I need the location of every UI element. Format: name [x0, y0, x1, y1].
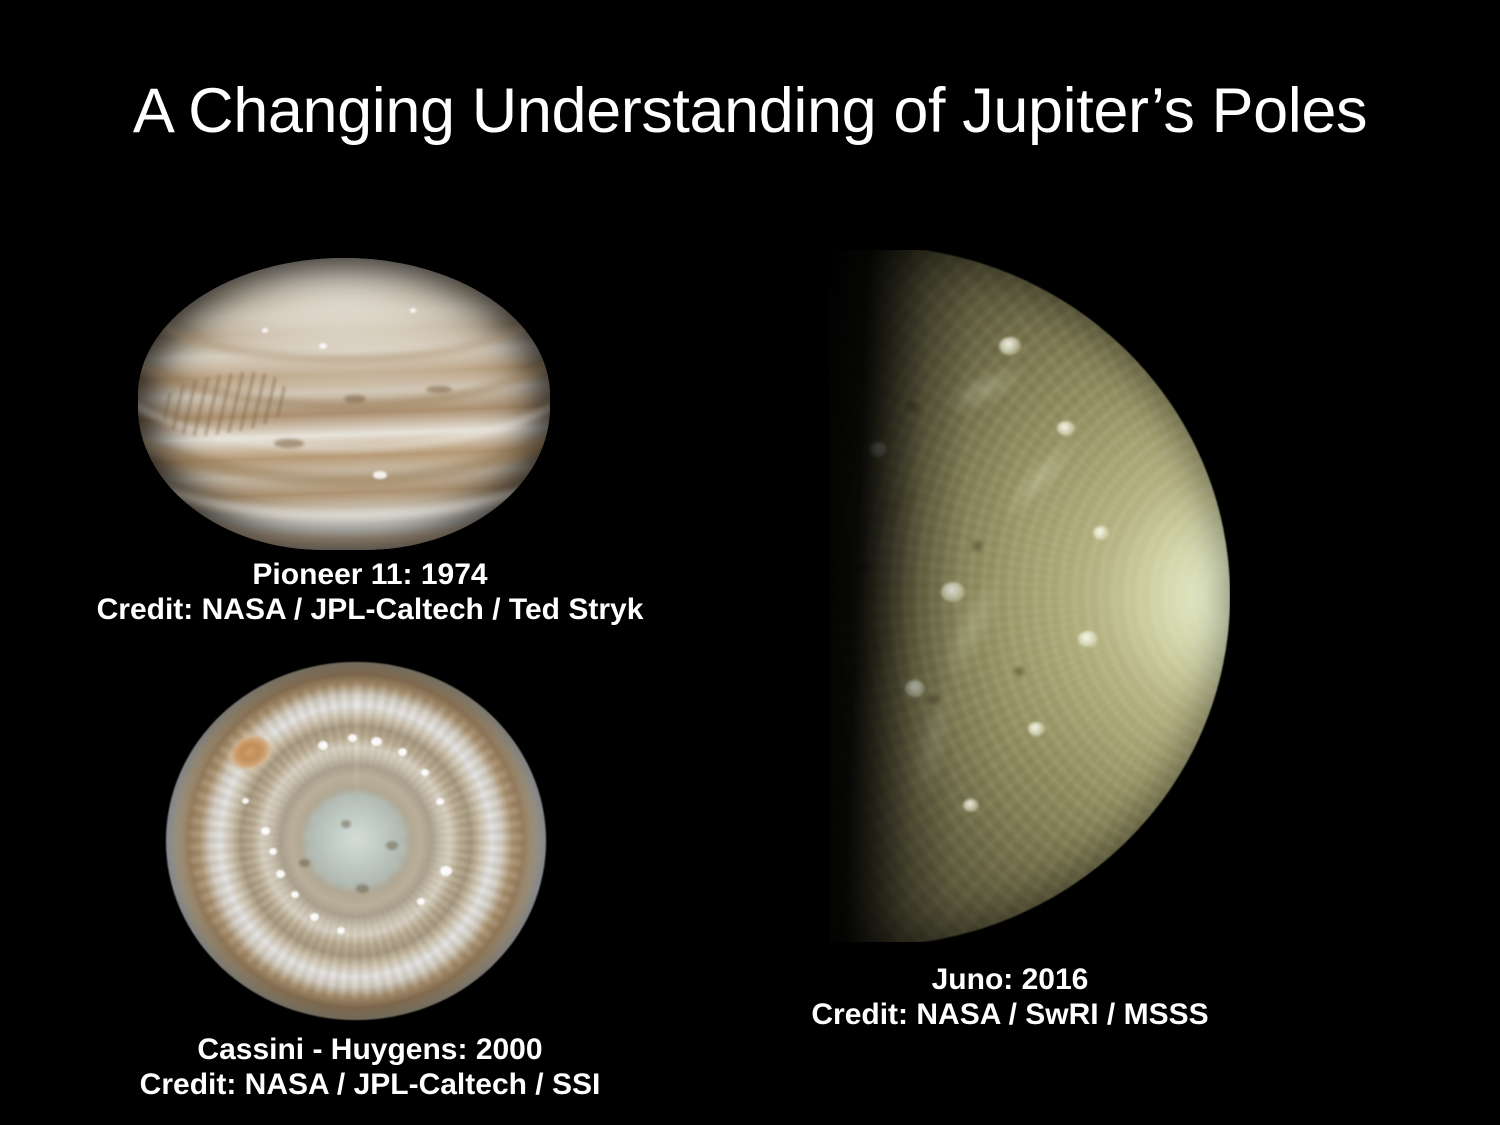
cassini-dark-spot	[341, 820, 351, 828]
juno-white-oval-storm	[999, 337, 1021, 355]
juno-white-oval-storm	[963, 799, 979, 812]
juno-bright-limb-band	[830, 250, 1230, 942]
juno-caption: Juno: 2016 Credit: NASA / SwRI / MSSS	[705, 962, 1315, 1032]
cassini-white-spot	[242, 798, 249, 804]
cassini-white-spot	[398, 748, 407, 756]
pioneer-credit-label: Credit: NASA / JPL-Caltech / Ted Stryk	[30, 592, 710, 627]
cassini-white-spot	[417, 898, 425, 905]
cassini-oval-storm	[226, 731, 275, 774]
juno-dark-oval	[927, 694, 942, 706]
cassini-white-spot	[269, 848, 277, 855]
pioneer-mission-label: Pioneer 11: 1974	[30, 557, 710, 592]
juno-dark-oval	[970, 540, 984, 552]
juno-crescent-clip	[830, 250, 1230, 942]
pioneer-dark-spot	[274, 439, 304, 448]
cassini-white-spot	[371, 737, 382, 746]
cassini-dark-spot	[356, 884, 369, 893]
juno-dark-oval	[855, 561, 873, 575]
cassini-white-spot	[276, 870, 285, 878]
cassini-white-oval	[440, 866, 452, 876]
cassini-caption: Cassini - Huygens: 2000 Credit: NASA / J…	[25, 1032, 715, 1102]
juno-credit-label: Credit: NASA / SwRI / MSSS	[705, 997, 1315, 1032]
cassini-white-spot	[337, 927, 345, 934]
juno-white-oval-storm	[1057, 421, 1075, 436]
cassini-huygens-jupiter-polar-image	[166, 662, 546, 1020]
cassini-planet-disk	[166, 662, 546, 1020]
juno-white-oval-storm	[869, 442, 887, 457]
pioneer-white-spot	[319, 343, 327, 349]
page-title: A Changing Understanding of Jupiter’s Po…	[0, 78, 1500, 144]
juno-white-oval-storm	[905, 680, 925, 697]
cassini-white-spot	[436, 798, 444, 805]
juno-jupiter-polar-crescent-image	[830, 250, 1230, 942]
pioneer-caption: Pioneer 11: 1974 Credit: NASA / JPL-Calt…	[30, 557, 710, 627]
cassini-white-spot	[348, 734, 357, 742]
cassini-dark-spot	[299, 859, 310, 867]
cassini-white-spot	[421, 769, 429, 776]
juno-white-oval-storm	[1028, 722, 1045, 736]
juno-planet-globe	[830, 250, 1230, 942]
cassini-white-spot	[310, 913, 319, 921]
juno-white-oval-storm	[1093, 526, 1109, 540]
cassini-credit-label: Credit: NASA / JPL-Caltech / SSI	[25, 1067, 715, 1102]
pioneer-11-jupiter-image	[138, 258, 550, 550]
pioneer-planet-body	[138, 258, 550, 550]
cassini-white-spot	[261, 827, 270, 835]
cassini-mission-label: Cassini - Huygens: 2000	[25, 1032, 715, 1067]
slide-canvas: A Changing Understanding of Jupiter’s Po…	[0, 0, 1500, 1125]
pioneer-white-spot	[410, 308, 416, 313]
juno-mission-label: Juno: 2016	[705, 962, 1315, 997]
cassini-white-spot	[318, 741, 328, 750]
juno-dark-oval	[905, 400, 921, 413]
cassini-white-spot	[291, 891, 299, 898]
pioneer-white-spot	[262, 328, 268, 333]
pioneer-white-oval	[373, 471, 387, 479]
